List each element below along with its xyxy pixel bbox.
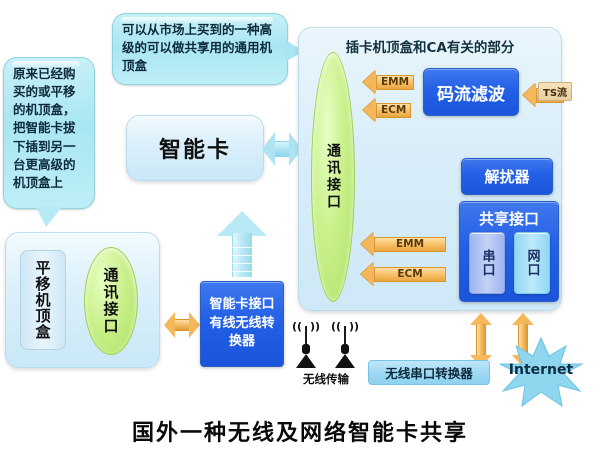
- smartcard-interface-converter-box: 智能卡接口有线无线转换器: [200, 281, 284, 367]
- arrow-stripe: [232, 247, 252, 248]
- arrow-stripe: [232, 271, 252, 272]
- callout-advanced-stb: 可以从市场上买到的一种高级的可以做共享用的通用机顶盒: [112, 13, 288, 85]
- arrow-head-right: [189, 312, 200, 338]
- arrow-head-left: [363, 70, 376, 94]
- arrow-stripe: [232, 255, 252, 256]
- smartcard-to-panel-double-arrow-icon: [262, 132, 302, 166]
- arrow-head-left: [363, 98, 376, 122]
- arrow-head-left: [164, 312, 175, 338]
- arrow-head-left: [361, 232, 374, 256]
- page-title: 国外一种无线及网络智能卡共享: [0, 415, 600, 447]
- ca-comm-label: 通讯接口: [323, 143, 343, 211]
- legacy-stb-inner-label: 平移机顶盒: [20, 250, 66, 350]
- arrow-head-left: [523, 83, 536, 107]
- serial-port-label: 串口: [478, 249, 497, 277]
- emm-arrow-top-icon: EMM: [363, 70, 414, 94]
- ecm-arrow-top-icon: ECM: [363, 98, 411, 122]
- antenna-base: [335, 354, 355, 368]
- ca-comm-interface: 通讯接口: [311, 52, 355, 302]
- share-interface-box: 共享接口 串口 网口: [459, 201, 559, 302]
- smart-card-box: 智能卡: [126, 115, 264, 181]
- signal-wave-right-icon: )): [349, 320, 359, 333]
- arrow-head-left: [262, 132, 275, 166]
- signal-wave-left-icon: ((: [331, 320, 341, 333]
- share-interface-label: 共享接口: [479, 208, 539, 229]
- antenna-caption: 无线传输: [286, 371, 366, 387]
- signal-wave-left-icon: ((: [292, 320, 302, 333]
- antenna-icon: (( )): [293, 318, 319, 368]
- emm-arrow-label: EMM: [376, 75, 414, 90]
- emm-bottom-label: EMM: [374, 237, 446, 252]
- signal-wave-right-icon: )): [310, 320, 320, 333]
- legacy-stb-box: 平移机顶盒 通讯接口: [5, 232, 160, 368]
- wireless-serial-converter-label: 无线串口转换器: [385, 363, 473, 382]
- ca-panel-title: 插卡机顶盒和CA有关的部分: [299, 36, 561, 56]
- converter-label: 智能卡接口有线无线转换器: [206, 296, 278, 353]
- callout-top-text: 可以从市场上买到的一种高级的可以做共享用的通用机顶盒: [122, 22, 272, 73]
- descrambler-box: 解扰器: [461, 158, 553, 195]
- ecm-bottom-label: ECM: [374, 267, 446, 282]
- stream-filter-box: 码流滤波: [423, 68, 519, 116]
- diagram-canvas: 可以从市场上买到的一种高级的可以做共享用的通用机顶盒 原来已经购买的或平移的机顶…: [0, 0, 600, 453]
- arrow-head-left: [361, 262, 374, 286]
- serial-link-double-arrow-icon: [470, 313, 492, 367]
- ts-stream-label: TS流: [538, 82, 572, 101]
- upward-arrow-icon: [217, 211, 267, 277]
- antenna-icon: (( )): [332, 318, 358, 368]
- antenna-base: [296, 354, 316, 368]
- net-port-box: 网口: [514, 232, 550, 294]
- ecm-arrow-bottom-icon: ECM: [361, 262, 446, 286]
- smart-card-label: 智能卡: [159, 132, 231, 164]
- stream-filter-label: 码流滤波: [437, 80, 505, 105]
- net-port-label: 网口: [523, 249, 542, 277]
- arrow-stem: [476, 324, 486, 356]
- ca-related-panel: 插卡机顶盒和CA有关的部分 通讯接口 EMM ECM 码流滤波 解扰器: [298, 27, 562, 311]
- callout-legacy-stb: 原来已经购买的或平移的机顶盒，把智能卡拔下插到另一台更高级的机顶盒上: [3, 57, 95, 209]
- antenna-knob: [341, 344, 349, 354]
- ecm-arrow-label: ECM: [376, 103, 411, 118]
- serial-port-box: 串口: [469, 232, 505, 294]
- stb-to-converter-double-arrow-icon: [164, 312, 200, 338]
- legacy-stb-label: 平移机顶盒: [33, 260, 54, 340]
- legacy-stb-comm-label: 通讯接口: [101, 267, 122, 335]
- internet-label: Internet: [496, 362, 586, 378]
- legacy-stb-comm-interface: 通讯接口: [84, 247, 138, 355]
- callout-left-text: 原来已经购买的或平移的机顶盒，把智能卡拔下插到另一台更高级的机顶盒上: [13, 66, 76, 190]
- callout-tail-down: [36, 207, 62, 227]
- internet-cloud-icon: Internet: [496, 336, 586, 408]
- emm-arrow-bottom-icon: EMM: [361, 232, 446, 256]
- antenna-knob: [302, 344, 310, 354]
- descrambler-label: 解扰器: [484, 166, 529, 187]
- wireless-serial-converter-box: 无线串口转换器: [368, 360, 490, 385]
- arrow-stripe: [232, 263, 252, 264]
